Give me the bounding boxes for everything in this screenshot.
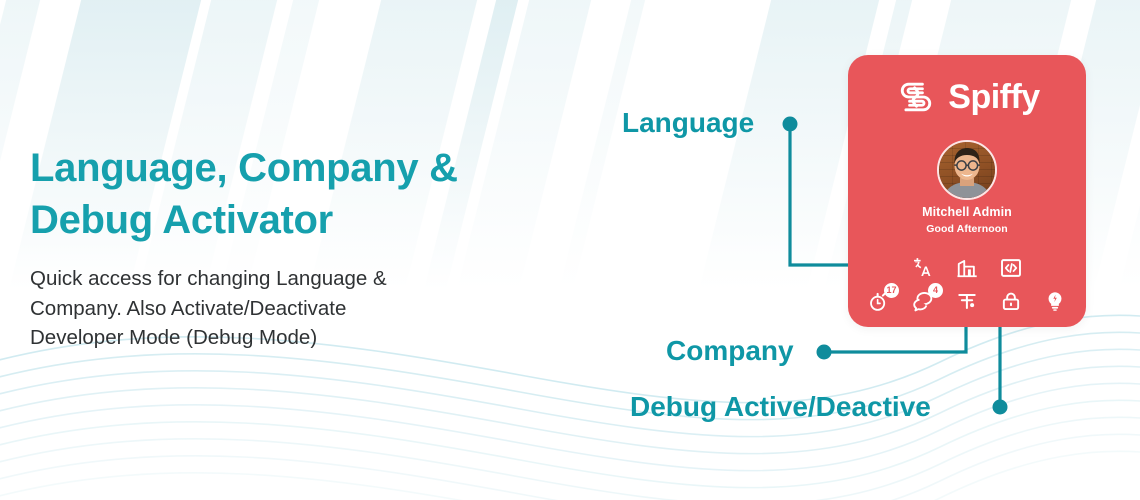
banner-canvas: Language, Company & Debug Activator Quic… <box>0 0 1140 500</box>
spiffy-paperclip-logo-icon <box>894 75 938 119</box>
brand-name: Spiffy <box>948 80 1039 114</box>
connector-dot-company <box>817 345 832 360</box>
user-name: Mitchell Admin <box>848 205 1086 219</box>
avatar[interactable] <box>937 140 997 200</box>
avatar-container <box>848 140 1086 200</box>
connector-dot-debug <box>993 400 1008 415</box>
chat-bubbles-icon[interactable]: 4 <box>912 290 934 312</box>
systray-secondary-row: 17 4 <box>848 287 1086 315</box>
filter-funnel-icon[interactable] <box>956 290 978 312</box>
company-building-icon[interactable] <box>956 257 978 279</box>
systray-primary-row <box>848 255 1086 281</box>
messages-badge: 4 <box>928 283 943 298</box>
lightbulb-icon[interactable] <box>1044 290 1066 312</box>
lock-icon[interactable] <box>1000 290 1022 312</box>
greeting-text: Good Afternoon <box>848 223 1086 235</box>
brand-lockup: Spiffy <box>848 69 1086 125</box>
code-debug-icon[interactable] <box>1000 257 1022 279</box>
spiffy-user-menu-card: Spiffy <box>848 55 1086 327</box>
translate-language-icon[interactable] <box>912 257 934 279</box>
timer-clock-icon[interactable]: 17 <box>868 290 890 312</box>
timer-badge: 17 <box>884 283 899 298</box>
connector-dot-language <box>783 117 798 132</box>
